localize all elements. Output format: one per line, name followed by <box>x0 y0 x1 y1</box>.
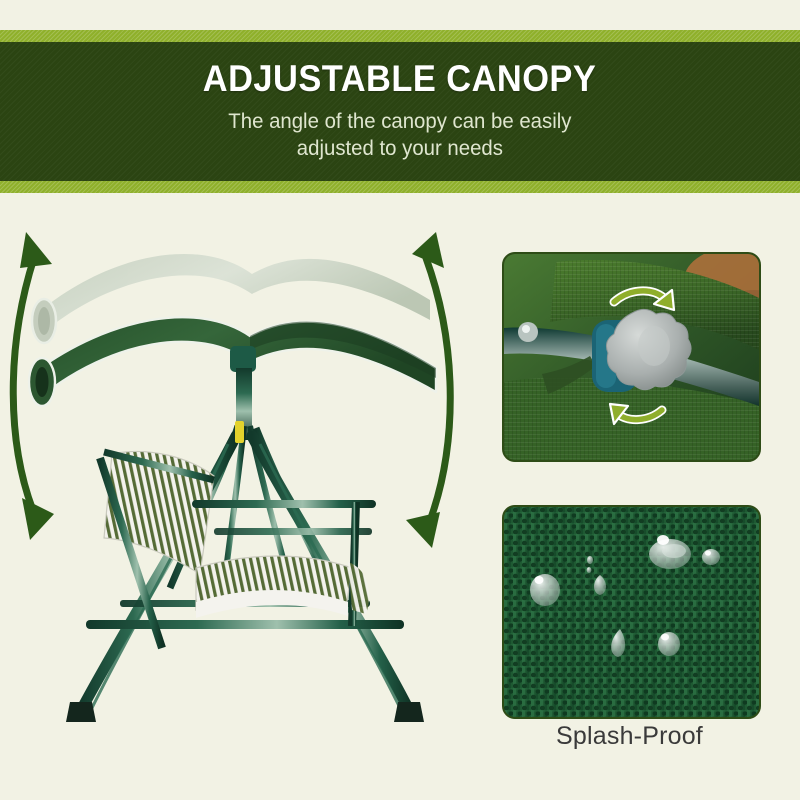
page-title: ADJUSTABLE CANOPY <box>203 60 596 99</box>
subtitle-line-2: adjusted to your needs <box>297 137 503 160</box>
banner-stripe-top <box>0 30 800 42</box>
subtitle-line-1: The angle of the canopy can be easily <box>228 110 571 133</box>
canopy-tilt-range-arrow-right <box>406 232 450 548</box>
infographic-canvas: ADJUSTABLE CANOPY The angle of the canop… <box>0 0 800 800</box>
panel-splash-proof-fabric <box>502 505 761 719</box>
hang-tag <box>235 421 244 443</box>
banner-stripe-bottom <box>0 181 800 193</box>
header-banner: ADJUSTABLE CANOPY The angle of the canop… <box>0 30 800 193</box>
panel-adjustment-knob <box>502 252 761 462</box>
swing-hero-illustration <box>0 196 478 800</box>
splash-proof-caption: Splash-Proof <box>502 722 757 751</box>
